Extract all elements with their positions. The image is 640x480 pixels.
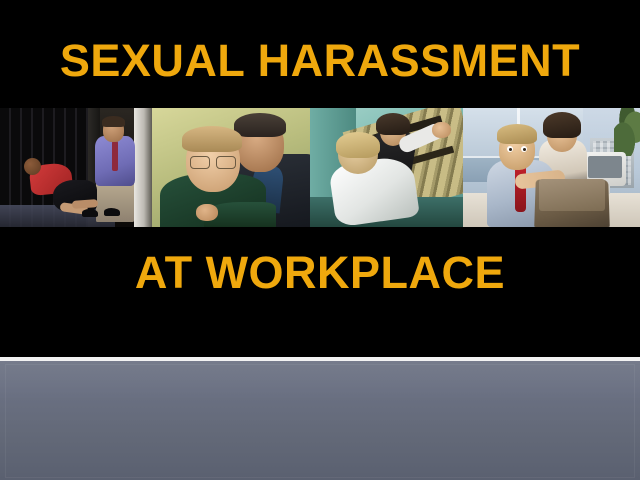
photo-4-plant bbox=[614, 108, 640, 156]
photo-4-man-eye-right bbox=[521, 146, 527, 152]
content-placeholder-panel[interactable] bbox=[0, 357, 640, 480]
page-title: SEXUAL HARASSMENT bbox=[60, 38, 580, 83]
photo-3-woman-hair bbox=[376, 113, 410, 135]
photo-4-man-hair bbox=[497, 124, 537, 144]
photo-2-woman-glasses bbox=[190, 156, 236, 167]
content-panel-text bbox=[5, 364, 635, 478]
collage-photo-1 bbox=[0, 108, 152, 227]
collage-photo-4 bbox=[463, 108, 640, 227]
photo-1-man-trousers bbox=[96, 182, 134, 222]
photo-1-woman-head bbox=[24, 158, 41, 175]
photo-1-woman-shoe-b bbox=[104, 208, 120, 216]
collage-photo-2 bbox=[152, 108, 310, 227]
photo-2-man-hair bbox=[234, 113, 286, 137]
photo-4-woman-hair bbox=[543, 112, 581, 138]
page-subtitle: AT WORKPLACE bbox=[135, 250, 505, 295]
title-zone: SEXUAL HARASSMENT bbox=[0, 0, 640, 108]
photo-3-man-hand bbox=[432, 122, 451, 138]
harassment-photo-collage bbox=[0, 108, 640, 227]
photo-1-man-hair bbox=[102, 116, 125, 127]
photo-2-woman-hair bbox=[182, 126, 242, 152]
subtitle-zone: AT WORKPLACE bbox=[0, 227, 640, 356]
photo-2-woman-hand bbox=[196, 204, 218, 221]
photo-4-man-eye-left bbox=[507, 146, 513, 152]
presentation-slide: SEXUAL HARASSMENT bbox=[0, 0, 640, 480]
collage-photo-3 bbox=[310, 108, 463, 227]
photo-1-doorway bbox=[134, 108, 152, 227]
photo-3-man-hair bbox=[336, 132, 380, 158]
photo-4-laptop-screen bbox=[539, 179, 605, 211]
photo-1-man-tie bbox=[112, 141, 118, 171]
photo-1-woman-shoe-a bbox=[82, 209, 98, 217]
